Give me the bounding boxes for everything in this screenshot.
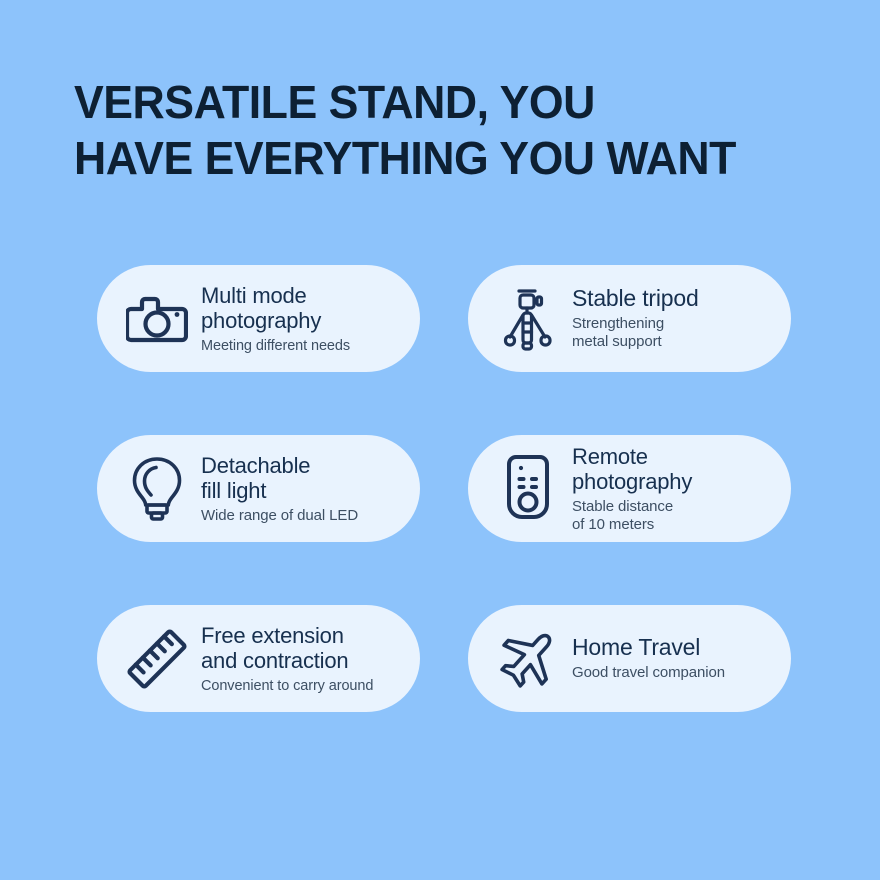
feature-card-home-travel: Home Travel Good travel companion (468, 605, 791, 712)
lightbulb-icon (115, 447, 199, 531)
feature-card-text: Home Travel Good travel companion (570, 635, 777, 682)
remote-control-icon (486, 447, 570, 531)
feature-card-title: Free extension and contraction (201, 623, 406, 673)
tripod-icon (486, 277, 570, 361)
feature-card-remote-photography: Remote photography Stable distance of 10… (468, 435, 791, 542)
product-feature-poster: VERSATILE STAND, YOU HAVE EVERYTHING YOU… (0, 0, 880, 880)
feature-card-subtitle: Wide range of dual LED (201, 507, 406, 525)
feature-card-multi-mode-photography: Multi mode photography Meeting different… (97, 265, 420, 372)
ruler-icon (115, 617, 199, 701)
feature-card-subtitle: Stable distance of 10 meters (572, 498, 777, 534)
feature-card-subtitle: Strengthening metal support (572, 315, 777, 351)
feature-card-subtitle: Good travel companion (572, 664, 777, 682)
page-title: VERSATILE STAND, YOU HAVE EVERYTHING YOU… (74, 74, 792, 186)
feature-card-title: Home Travel (572, 635, 777, 660)
feature-card-title: Multi mode photography (201, 283, 406, 333)
feature-card-grid: Multi mode photography Meeting different… (97, 265, 791, 712)
headline-line-2: HAVE EVERYTHING YOU WANT (74, 130, 792, 186)
headline-line-1: VERSATILE STAND, YOU (74, 74, 792, 130)
camera-icon (115, 277, 199, 361)
feature-card-text: Multi mode photography Meeting different… (199, 283, 406, 355)
airplane-icon (486, 617, 570, 701)
feature-card-detachable-fill-light: Detachable fill light Wide range of dual… (97, 435, 420, 542)
feature-card-text: Free extension and contraction Convenien… (199, 623, 406, 695)
feature-card-title: Remote photography (572, 444, 777, 494)
feature-card-text: Detachable fill light Wide range of dual… (199, 453, 406, 525)
feature-card-title: Stable tripod (572, 286, 777, 311)
feature-card-subtitle: Convenient to carry around (201, 677, 406, 695)
feature-card-stable-tripod: Stable tripod Strengthening metal suppor… (468, 265, 791, 372)
feature-card-subtitle: Meeting different needs (201, 337, 406, 355)
feature-card-title: Detachable fill light (201, 453, 406, 503)
feature-card-text: Stable tripod Strengthening metal suppor… (570, 286, 777, 351)
feature-card-free-extension: Free extension and contraction Convenien… (97, 605, 420, 712)
feature-card-text: Remote photography Stable distance of 10… (570, 444, 777, 534)
